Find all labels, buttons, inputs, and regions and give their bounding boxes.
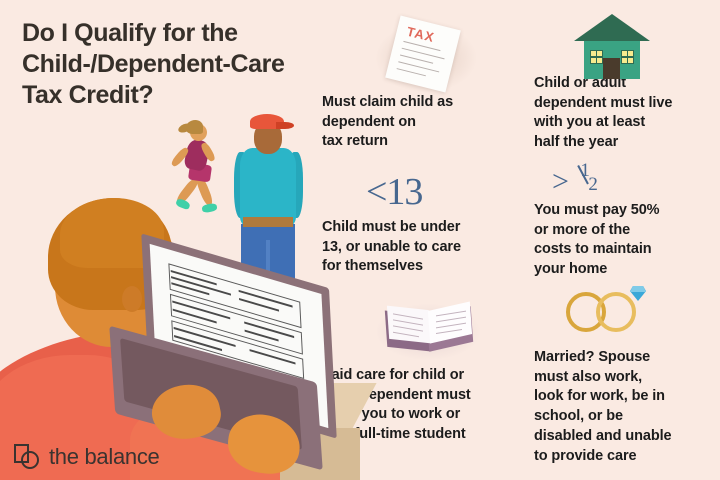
square-circle-mark-icon [14,442,42,472]
logo-wordmark: the balance [49,444,159,470]
infographic-canvas: Do I Qualify for the Child-/Dependent-Ca… [0,0,720,480]
less-than-13-glyph: <13 [366,170,422,214]
child-shoe-front [201,203,217,213]
house-window-left [590,50,603,64]
item-text-pay-half-costs: You must pay 50% or more of the costs to… [534,201,714,280]
item-text-under-13: Child must be under 13, or unable to car… [322,218,514,277]
adult-shirt [240,148,296,226]
child-hair [186,120,203,134]
page-title: Do I Qualify for the Child-/Dependent-Ca… [22,18,322,111]
adult-cap-brim [276,122,294,129]
greater-than-half-glyph: > 1 2 [552,160,601,199]
item-text-claim-dependent: Must claim child as dependent on tax ret… [322,93,507,152]
one-half-fraction: 1 2 [579,160,601,194]
fraction-denominator: 2 [588,174,598,196]
house-window-right [621,50,634,64]
wedding-ring-right [596,292,636,332]
house-door [603,58,620,79]
house-roof [574,14,650,41]
item-text-lives-with-you: Child or adult dependent must live with … [534,74,714,153]
person-ear [122,286,142,312]
greater-than-sign: > [552,165,569,198]
the-balance-logo: the balance [14,442,159,472]
child-shoe-back [175,198,191,210]
item-text-spouse-requirements: Married? Spouse must also work, look for… [534,348,716,466]
adult-belt [243,217,293,227]
